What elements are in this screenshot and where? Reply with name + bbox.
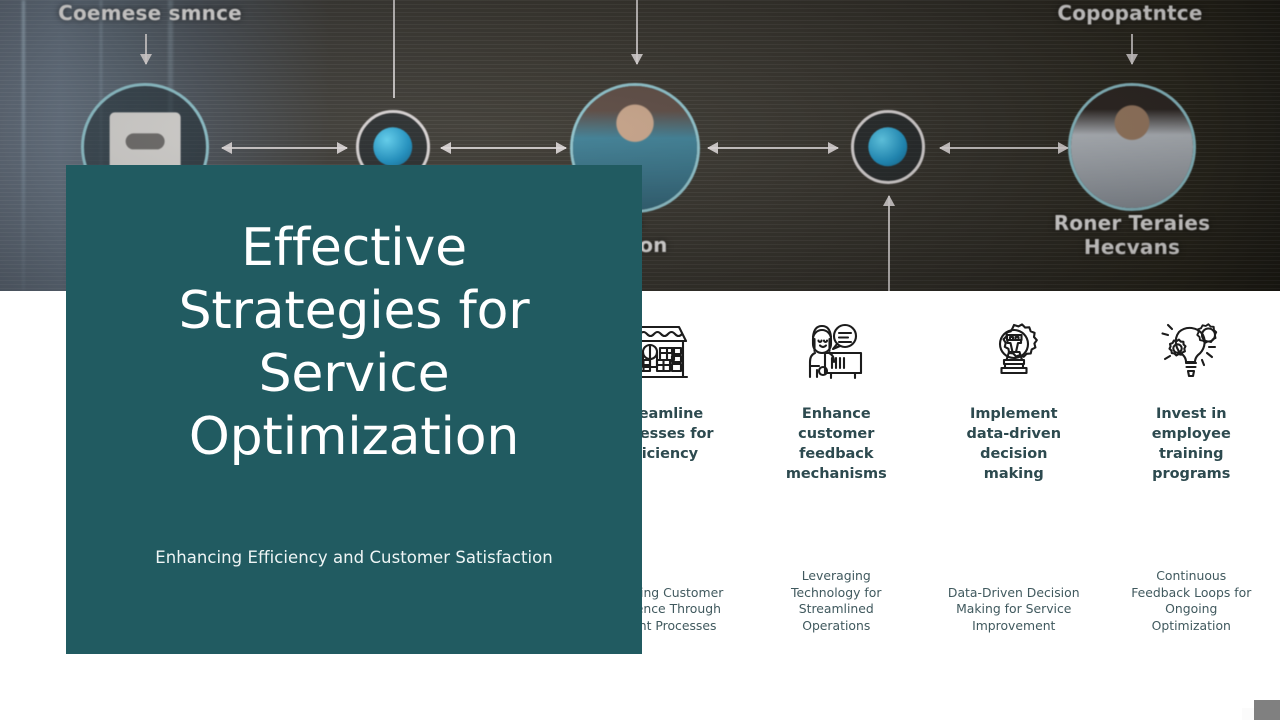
strategy-heading: Enhance customer feedback mechanisms [772,404,900,514]
strategy-body: Continuous Feedback Loops for Ongoing Op… [1125,568,1257,660]
corner-notch [1242,708,1254,720]
strategy-body: Data-Driven Decision Making for Service … [948,585,1080,661]
page-title: Effective Strategies for Service Optimiz… [139,217,569,469]
lightbulb-gears-idea-icon [1157,300,1225,404]
strategy-column: Enhance customer feedback mechanisms Lev… [748,300,926,660]
page-subtitle: Enhancing Efficiency and Customer Satisf… [155,548,553,567]
strategy-heading: Implement data-driven decision making [950,404,1078,514]
strategy-body: Leveraging Technology for Streamlined Op… [770,568,902,660]
strategy-column: Implement data-driven decision making Da… [925,300,1103,660]
strategy-column: Invest in employee training programs Con… [1103,300,1280,660]
slide-canvas: Coemese smnce E F nces etfiton Copopatnt… [0,0,1280,720]
customer-feedback-person-icon [803,300,869,404]
strategy-columns: Streamline processes for efficiency Enha… [570,300,1280,660]
window-resize-handle[interactable] [1254,700,1280,720]
title-card: Effective Strategies for Service Optimiz… [66,165,642,654]
strategy-heading: Invest in employee training programs [1127,404,1255,514]
strategy-gear-chess-icon [983,300,1045,404]
